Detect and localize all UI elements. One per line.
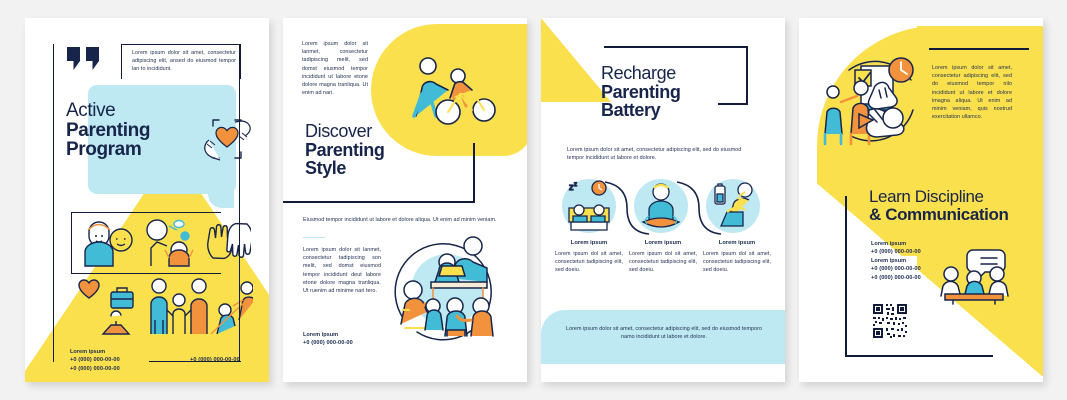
family-homework-circle-icon (387, 232, 505, 346)
card1-quote-text: Lorem ipsum dolor sit amet, consectetur … (132, 49, 236, 74)
card3-title: Recharge Parenting Battery (601, 64, 680, 120)
brochure-card-4[interactable]: Lorem ipsum dolor sit amet, consectetur … (799, 18, 1043, 382)
card1-frame-bottom (149, 361, 241, 362)
card4-frame-left (845, 196, 847, 356)
card4-title-line2: & Communication (869, 206, 1008, 224)
card4-contact-phone-1: +0 (000) 000-00-00 (871, 248, 921, 256)
card1-title-line3: Program (66, 140, 150, 160)
brochure-card-1[interactable]: Lorem ipsum dolor sit amet, consectetur … (25, 18, 269, 382)
family-conversation-icon (939, 248, 1009, 306)
card3-frame-top (604, 46, 748, 48)
card1-icons-top (75, 210, 251, 274)
quote-box: Lorem ipsum dolor sit amet, consectetur … (121, 44, 241, 79)
card4-lorem-text: Lorem ipsum dolor sit amet, consectetur … (932, 64, 1012, 121)
card3-step-2-text: Lorem ipsum dol sit amet, consecteturi t… (629, 250, 697, 275)
svg-text:z: z (574, 182, 577, 188)
card2-footer-phone: +0 (000) 000-00-00 (303, 339, 353, 347)
card1-footer-label: Lorem ipsum (70, 348, 120, 356)
card3-bottom-banner: Lorem ipsum dolor sit amet, consectetur … (541, 310, 785, 364)
brochure-card-2[interactable]: Lorem ipsum dolor sit lanmet, consectetu… (283, 18, 527, 382)
card3-frame-stub (718, 103, 748, 105)
card2-body-text: Lorem ipsum dolor sit lanmet, consectetu… (303, 246, 381, 295)
brochure-set: Lorem ipsum dolor sit amet, consectetur … (0, 0, 1067, 400)
card3-step-1-heading: Lorem ipsum (555, 240, 623, 246)
card1-frame-right (239, 44, 240, 362)
card3-step-3-text: Lorem ipsum dol sit amet, consecteturi t… (703, 250, 771, 275)
quote-frame-left (121, 44, 122, 79)
card4-frame-top (929, 48, 1029, 50)
card4-contact-label-2: Lorem ipsum (871, 257, 921, 265)
card2-title-line1: Discover (305, 121, 372, 141)
cyan-speech-bubble-tail (208, 178, 234, 208)
card2-title-line2: Parenting (305, 141, 384, 160)
card1-footer-left: Lorem ipsum +0 (000) 000-00-00 +0 (000) … (70, 348, 120, 373)
card3-step-2-heading: Lorem ipsum (629, 240, 697, 246)
card4-contact-label-1: Lorem ipsum (871, 240, 921, 248)
qr-code-icon[interactable] (871, 302, 909, 340)
card2-footer: Lorem ipsum +0 (000) 000-00-00 (303, 331, 353, 348)
card1-title: Active Parenting Program (66, 101, 150, 160)
card2-accent-rule (303, 237, 325, 238)
card2-divider-line (283, 201, 475, 203)
card4-title: Learn Discipline & Communication (869, 188, 1008, 223)
double-quote-logo (66, 46, 102, 72)
card1-title-line2: Parenting (66, 121, 150, 141)
card1-icons-bottom (71, 276, 253, 338)
card2-footer-label: Lorem ipsum (303, 331, 353, 339)
card3-step-2: Lorem ipsum Lorem ipsum dol sit amet, co… (629, 240, 697, 275)
card3-frame-right (746, 46, 748, 104)
card2-frame-vertical (473, 143, 475, 202)
card3-title-line3: Battery (601, 101, 680, 120)
card3-step-icons: z z (555, 176, 771, 236)
card2-title-line3: Style (305, 159, 384, 178)
card4-contact-phone-3: +0 (000) 000-00-00 (871, 274, 921, 282)
card3-banner-text: Lorem ipsum dolor sit amet, consectetur … (565, 325, 763, 341)
card2-subtitle: Eiusmod tempor incididunt ut labore et d… (303, 216, 499, 224)
parent-teaching-bike-icon (408, 54, 496, 130)
card3-step-1: Lorem ipsum Lorem ipsum dol sit amet, co… (555, 240, 623, 275)
card3-intro-text: Lorem ipsum dolor sit amet, consectetur … (567, 146, 759, 162)
card1-title-line1: Active (66, 100, 115, 121)
card4-frame-bottom (845, 355, 993, 357)
card3-title-line2: Parenting (601, 83, 680, 102)
card2-lorem-text: Lorem ipsum dolor sit lanmet, consectetu… (302, 40, 368, 97)
card3-step-texts: Lorem ipsum Lorem ipsum dol sit amet, co… (555, 240, 771, 275)
card1-footer-phone-2: +0 (000) 000-00-00 (70, 365, 120, 373)
discipline-routine-cycle-icon (817, 48, 933, 158)
card3-step-3: Lorem ipsum Lorem ipsum dol sit amet, co… (703, 240, 771, 275)
quote-frame-top (121, 44, 241, 45)
card4-contact-phone-2: +0 (000) 000-00-00 (871, 265, 921, 273)
card3-title-line1: Recharge (601, 63, 676, 83)
card4-title-line1: Learn Discipline (869, 187, 984, 206)
card3-step-3-heading: Lorem ipsum (703, 240, 771, 246)
heart-in-hands-icon (199, 110, 255, 168)
card3-step-1-text: Lorem ipsum dol sit amet, consecteturi t… (555, 250, 623, 275)
card2-title: Discover Parenting Style (305, 122, 384, 178)
card1-footer-phone-1: +0 (000) 000-00-00 (70, 356, 120, 364)
card4-contacts: Lorem ipsum +0 (000) 000-00-00 Lorem ips… (871, 240, 921, 282)
card1-frame-left (53, 44, 54, 362)
brochure-card-3[interactable]: Recharge Parenting Battery Lorem ipsum d… (541, 18, 785, 382)
